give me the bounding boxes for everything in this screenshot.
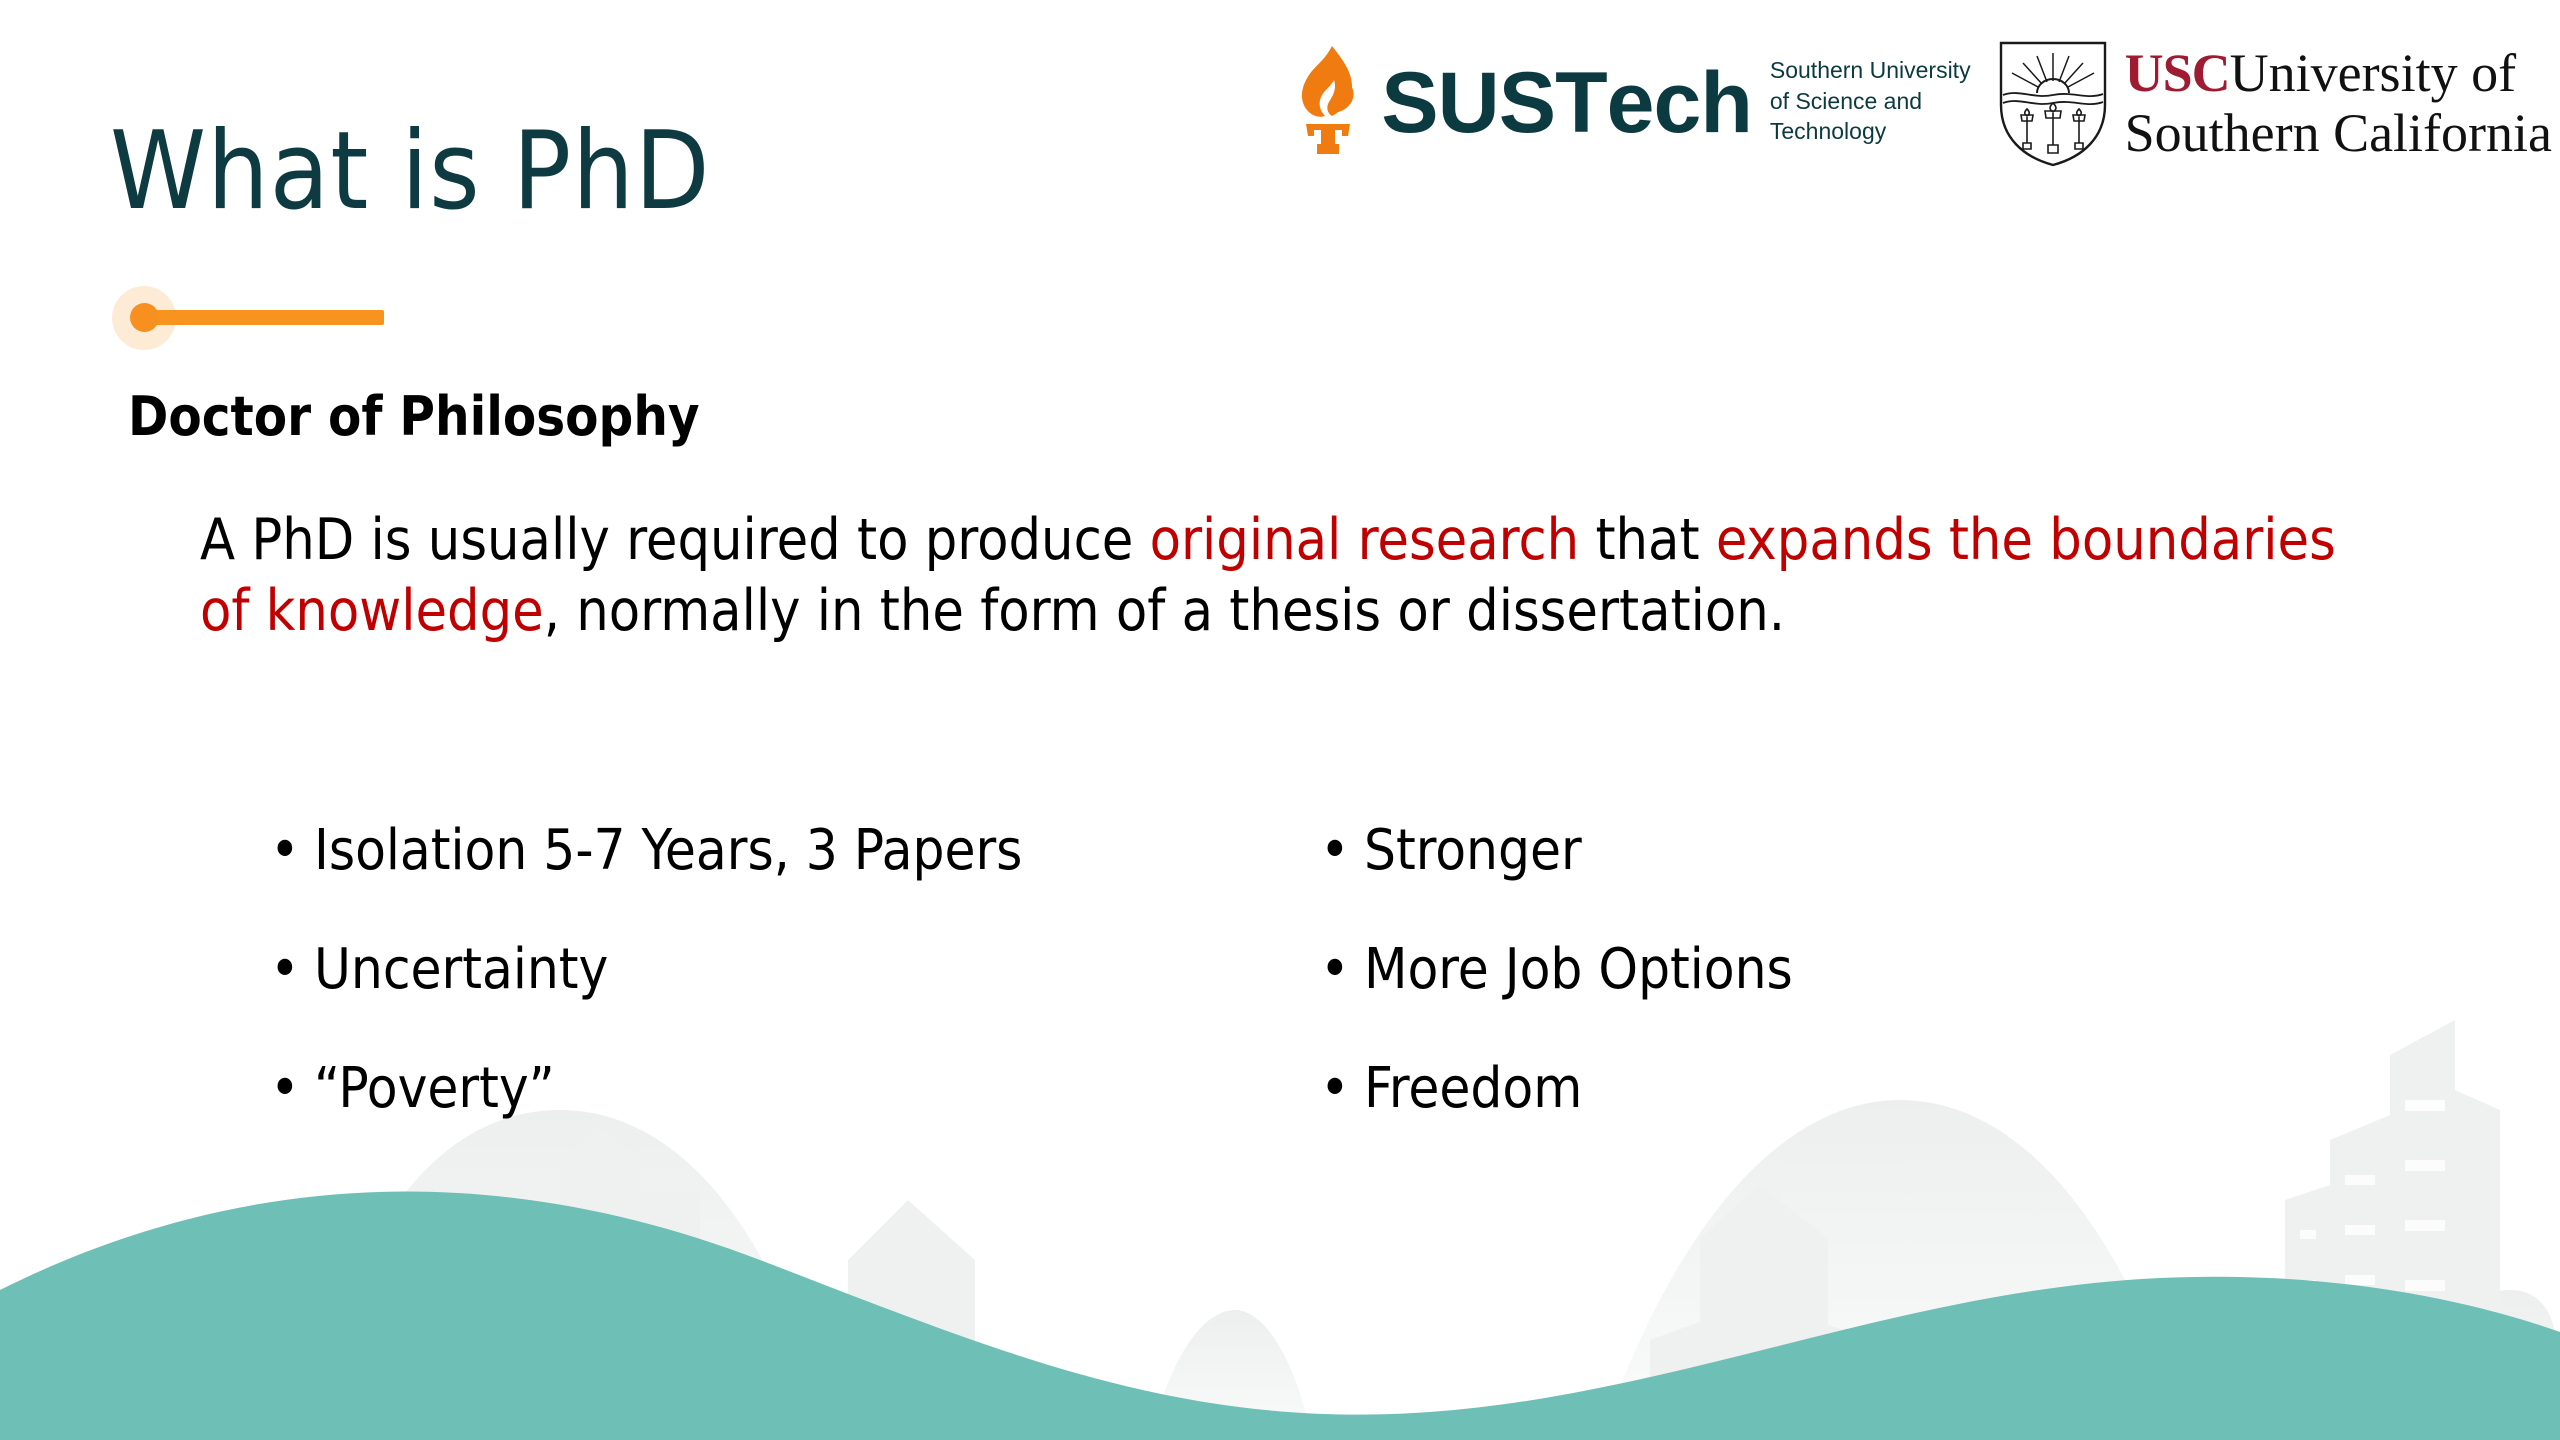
sustech-wordmark-bold: SUST: [1381, 54, 1606, 153]
sustech-torch-icon: [1285, 44, 1371, 162]
bullet-label: “Poverty”: [314, 1060, 555, 1119]
building-silhouettes: [560, 1125, 1870, 1440]
list-item: • Freedom: [1320, 1060, 2320, 1119]
sustech-subtext: Southern University of Science and Techn…: [1770, 55, 1971, 146]
paragraph-segment-2: that: [1579, 507, 1716, 573]
accent-dot: [130, 303, 159, 332]
sustech-subtext-line3: Technology: [1770, 116, 1971, 146]
bullet-marker-icon: •: [1320, 822, 1364, 881]
list-item: • Uncertainty: [270, 941, 1320, 1000]
slide-canvas: SUSTech Southern University of Science a…: [0, 0, 2560, 1440]
list-item: • Stronger: [1320, 822, 2320, 881]
list-item: • “Poverty”: [270, 1060, 1320, 1119]
bullet-marker-icon: •: [1320, 941, 1364, 1000]
hill-silhouettes: [120, 1100, 2560, 1440]
list-item: • More Job Options: [1320, 941, 2320, 1000]
title-accent-rule: [98, 272, 428, 364]
skyscraper-windows: [2300, 1100, 2445, 1351]
bullet-label: Freedom: [1364, 1060, 1582, 1119]
bullet-label: Uncertainty: [314, 941, 608, 1000]
page-title: What is PhD: [110, 118, 711, 226]
list-item: • Isolation 5-7 Years, 3 Papers: [270, 822, 1320, 881]
usc-acronym: USC: [2125, 43, 2230, 103]
paragraph-highlight-1: original research: [1150, 507, 1580, 573]
sustech-subtext-line2: of Science and: [1770, 86, 1971, 116]
sustech-wordmark: SUSTech: [1381, 54, 1752, 153]
usc-logo: USCUniversity of Southern California: [1997, 37, 2552, 169]
bullet-marker-icon: •: [270, 822, 314, 881]
body-paragraph: A PhD is usually required to produce ori…: [200, 505, 2380, 646]
paragraph-segment-3: , normally in the form of a thesis or di…: [544, 578, 1785, 644]
subheading: Doctor of Philosophy: [128, 385, 700, 448]
teal-wave: [0, 1192, 2560, 1440]
usc-wordmark-line2: Southern California: [2125, 106, 2552, 160]
usc-wordmark: USCUniversity of Southern California: [2125, 46, 2552, 160]
bullet-columns: • Isolation 5-7 Years, 3 Papers • Uncert…: [270, 822, 2370, 1118]
bullet-label: Stronger: [1364, 822, 1582, 881]
sustech-wordmark-light: ech: [1607, 54, 1752, 153]
bullet-column-right: • Stronger • More Job Options • Freedom: [1320, 822, 2320, 1118]
sustech-subtext-line1: Southern University: [1770, 55, 1971, 85]
sustech-logo: SUSTech Southern University of Science a…: [1285, 44, 1970, 162]
bullet-label: More Job Options: [1364, 941, 1793, 1000]
logo-bar: SUSTech Southern University of Science a…: [1285, 28, 2552, 178]
bullet-marker-icon: •: [1320, 1060, 1364, 1119]
bullet-column-left: • Isolation 5-7 Years, 3 Papers • Uncert…: [270, 822, 1320, 1118]
usc-wordmark-line1: USCUniversity of: [2125, 46, 2552, 100]
bullet-marker-icon: •: [270, 1060, 314, 1119]
accent-bar: [144, 310, 384, 325]
bullet-label: Isolation 5-7 Years, 3 Papers: [314, 822, 1022, 881]
usc-university-of: University of: [2230, 43, 2516, 103]
bullet-marker-icon: •: [270, 941, 314, 1000]
usc-shield-icon: [1997, 37, 2109, 169]
paragraph-segment-1: A PhD is usually required to produce: [200, 507, 1150, 573]
